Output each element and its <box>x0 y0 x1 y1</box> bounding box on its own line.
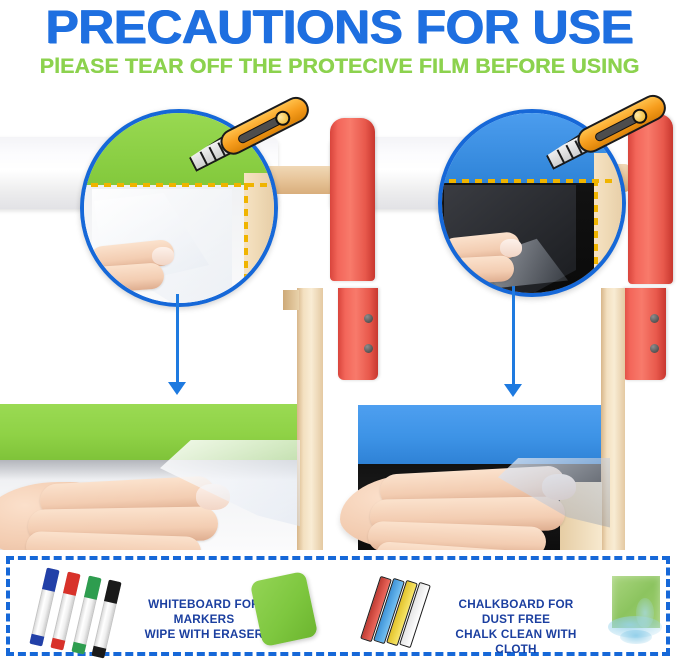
leader-line-left <box>176 294 179 386</box>
water-splash-2 <box>620 630 652 644</box>
page-title: PRECAUTIONS FOR USE <box>0 2 679 52</box>
leader-line-right <box>512 286 515 388</box>
callout-wood-edge <box>244 173 278 307</box>
precautions-infographic: PRECAUTIONS FOR USE PlEASE TEAR OFF THE … <box>0 0 679 664</box>
eraser <box>252 572 326 646</box>
markers-group <box>30 566 150 656</box>
chalkboard-caption-line2: CHALK CLEAN WITH CLOTH <box>441 628 592 658</box>
wood-post-nub <box>283 290 299 310</box>
cut-line-vertical <box>244 183 248 307</box>
callout-fingernail-2 <box>500 239 522 257</box>
red-frame-mid-left <box>338 288 378 380</box>
red-frame-post-top-left <box>330 118 375 281</box>
wood-post-left <box>297 288 323 550</box>
screw-1 <box>364 314 373 323</box>
cut-line-horizontal <box>80 183 268 187</box>
callout-finger-2 <box>83 262 165 294</box>
eraser-body <box>250 571 318 647</box>
blue-board-bar <box>358 405 606 464</box>
leader-arrow-left <box>168 382 186 395</box>
product-photo-stage <box>0 92 679 550</box>
screw-4 <box>650 344 659 353</box>
red-frame-post-top-right <box>628 114 673 284</box>
cut-line-vertical-2 <box>594 179 598 297</box>
red-frame-mid-right <box>622 288 666 380</box>
cut-line-horizontal-2 <box>438 179 616 183</box>
water-splash-3 <box>636 598 654 628</box>
callout-wood-edge-2 <box>594 153 626 297</box>
chalkboard-caption-line1: CHALKBOARD FOR DUST FREE <box>441 598 592 628</box>
callout-fingernail <box>152 247 174 265</box>
page-subtitle: PlEASE TEAR OFF THE PROTECIVE FILM BEFOR… <box>0 55 679 79</box>
screw-2 <box>364 344 373 353</box>
cleaning-cloth <box>606 572 668 646</box>
chalkboard-caption: CHALKBOARD FOR DUST FREE CHALK CLEAN WIT… <box>441 598 592 658</box>
callout-finger-4 <box>438 255 515 285</box>
chalks-group <box>366 574 450 646</box>
leader-arrow-right <box>504 384 522 397</box>
accessories-panel: WHITEBOARD FOR MARKERS WIPE WITH ERASER … <box>6 556 670 656</box>
header: PRECAUTIONS FOR USE PlEASE TEAR OFF THE … <box>0 0 679 92</box>
screw-3 <box>650 314 659 323</box>
